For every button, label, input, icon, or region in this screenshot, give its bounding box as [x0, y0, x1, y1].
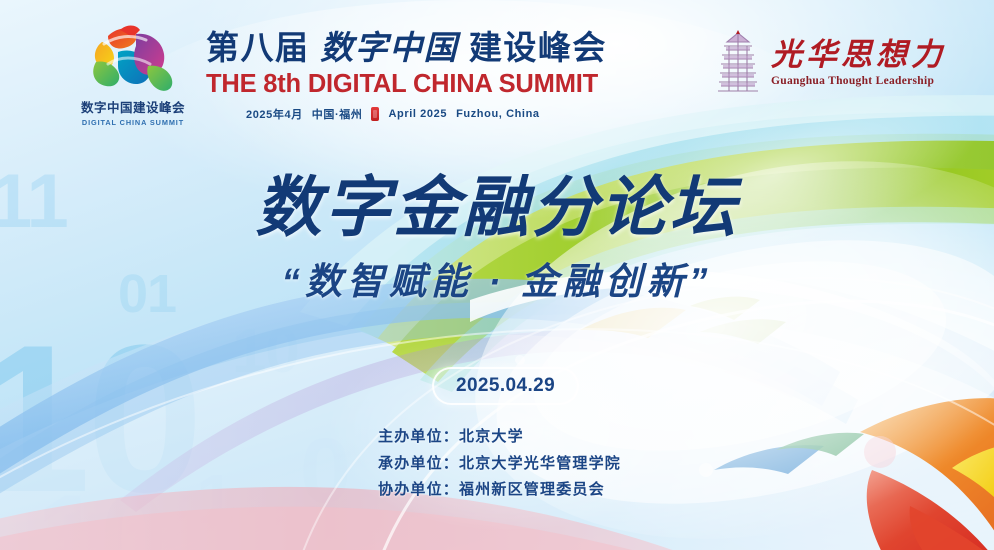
- guanghua-brand-text: 光华思想力 Guanghua Thought Leadership: [771, 39, 946, 87]
- summit-meta-en-date: April 2025: [388, 108, 447, 120]
- poster-canvas: 11 01 10 10 1 0 10: [0, 0, 994, 550]
- summit-title-cn-calligraphy: 数字中国: [320, 31, 458, 67]
- summit-title-cn-prefix: 第八届: [206, 29, 320, 66]
- guanghua-name-en: Guanghua Thought Leadership: [771, 75, 946, 87]
- summit-meta-cn-date: 2025年4月: [246, 106, 303, 122]
- summit-meta-line: 2025年4月 中国·福州 April 2025 Fuzhou, China: [206, 106, 607, 122]
- organizer-host: 主办单位：北京大学: [378, 424, 621, 451]
- organizer-undertaker: 承办单位：北京大学光华管理学院: [378, 451, 621, 478]
- summit-logo-en-label: DIGITAL CHINA SUMMIT: [74, 118, 192, 127]
- summit-header: 数字中国建设峰会 DIGITAL CHINA SUMMIT 第八届 数字中国 建…: [74, 22, 607, 127]
- digital-china-summit-logo: 数字中国建设峰会 DIGITAL CHINA SUMMIT: [74, 22, 192, 127]
- summit-title-cn: 第八届 数字中国 建设峰会: [206, 30, 607, 67]
- summit-title-cn-suffix: 建设峰会: [458, 29, 607, 66]
- pagoda-icon: [715, 30, 761, 96]
- guanghua-brand-logo: 光华思想力 Guanghua Thought Leadership: [715, 30, 946, 96]
- summit-meta-en-place: Fuzhou, China: [456, 108, 540, 120]
- red-seal-icon: [371, 107, 379, 121]
- summit-logo-cn-label: 数字中国建设峰会: [74, 102, 192, 116]
- event-date-badge: 2025.04.29: [432, 367, 579, 405]
- organizer-list: 主办单位：北京大学 承办单位：北京大学光华管理学院 协办单位：福州新区管理委员会: [378, 424, 621, 504]
- summit-meta-cn-place: 中国·福州: [312, 106, 363, 122]
- organizer-coorganizer: 协办单位：福州新区管理委员会: [378, 477, 621, 504]
- guanghua-name-cn: 光华思想力: [771, 39, 946, 70]
- summit-header-text: 第八届 数字中国 建设峰会 THE 8th DIGITAL CHINA SUMM…: [206, 22, 607, 122]
- summit-title-en: THE 8th DIGITAL CHINA SUMMIT: [206, 70, 607, 99]
- digital-china-summit-emblem-icon: [74, 22, 192, 100]
